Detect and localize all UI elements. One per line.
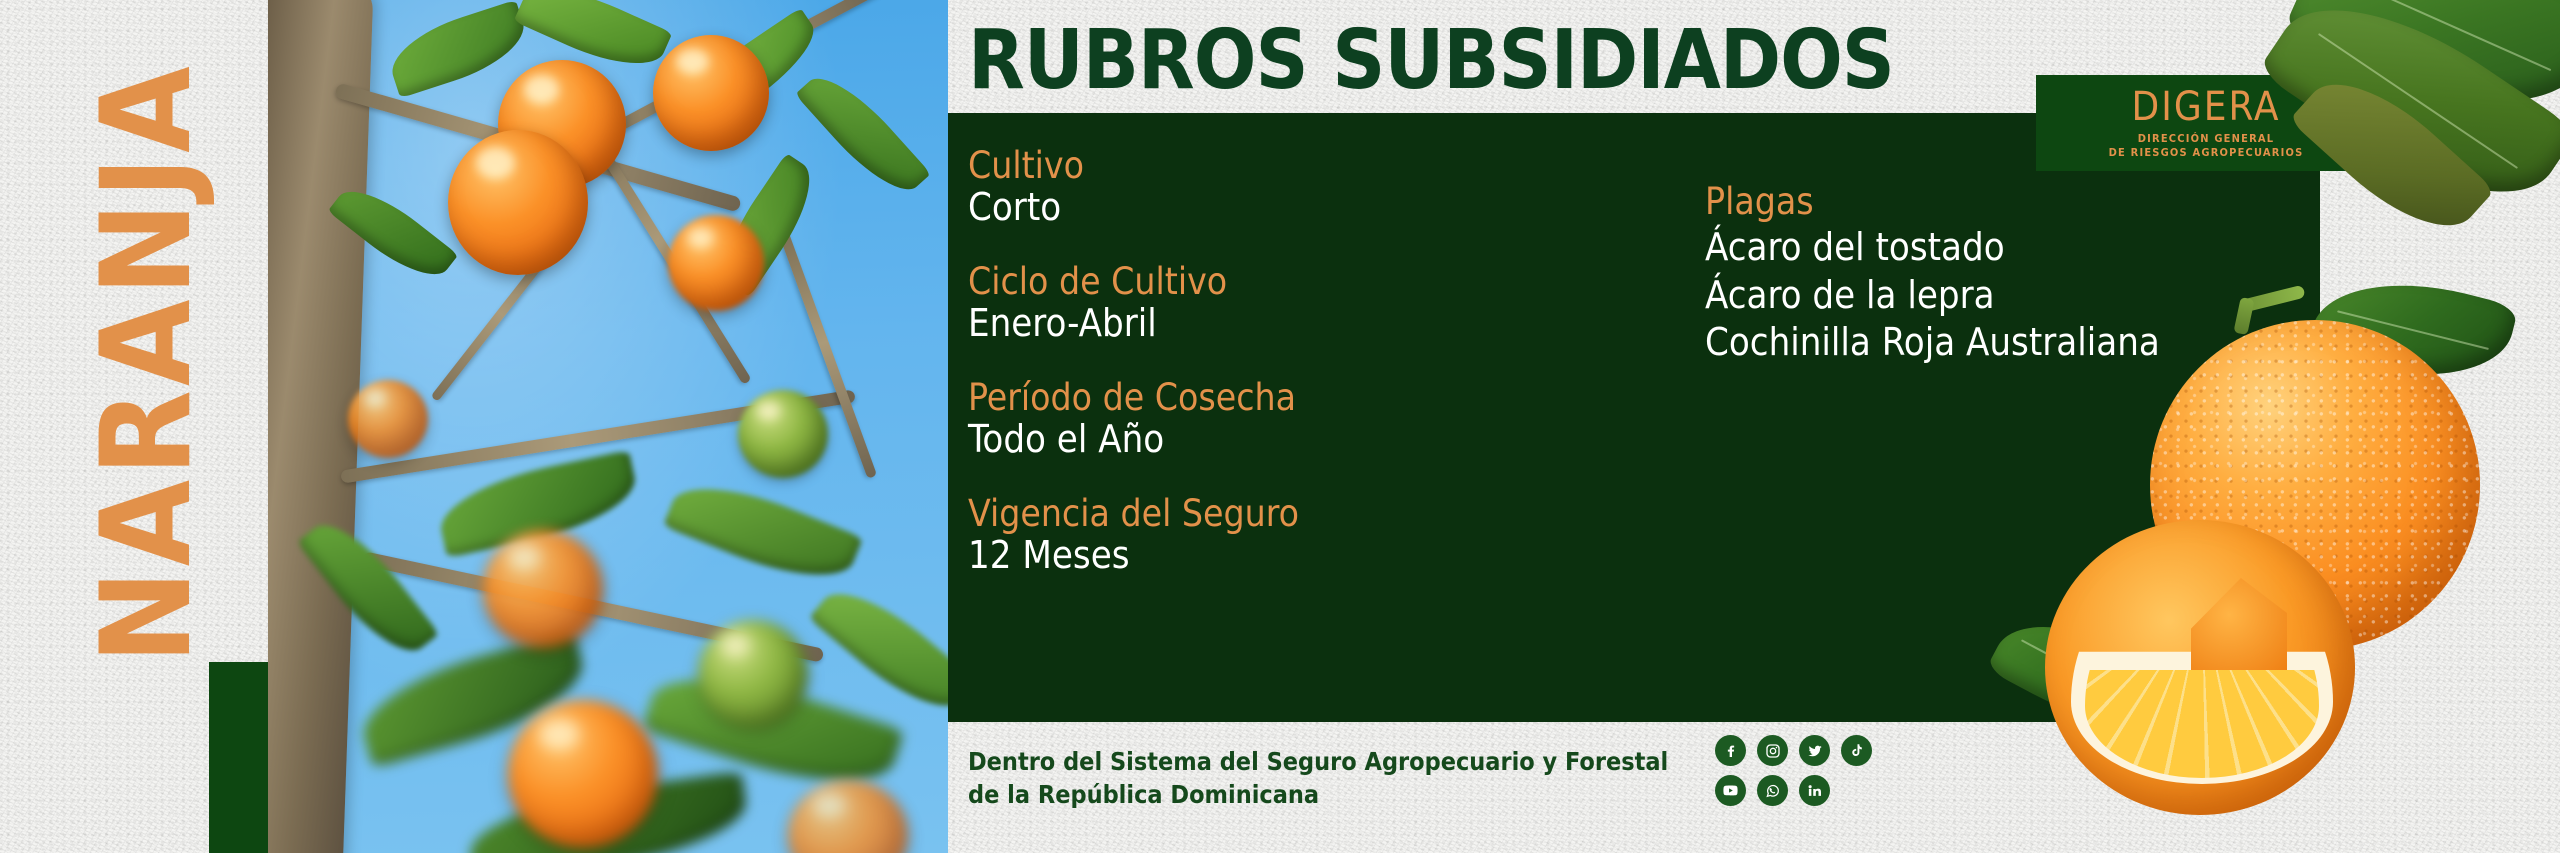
orange-fruit — [668, 215, 764, 311]
facebook-icon[interactable] — [1715, 735, 1746, 766]
pest-list-label: Plagas — [1705, 180, 2325, 224]
page-title: RUBROS SUBSIDIADOS — [968, 20, 1894, 102]
poster-canvas: NARANJA — [0, 0, 2560, 853]
orange-slice-flesh — [2085, 578, 2319, 778]
orange-tree-photo — [268, 0, 948, 853]
orange-stem-base — [2233, 297, 2254, 335]
youtube-icon[interactable] — [1715, 775, 1746, 806]
logo-subtitle-line2: DE RIESGOS AGROPECUARIOS — [2109, 146, 2304, 160]
footer-note-line1: Dentro del Sistema del Seguro Agropecuar… — [968, 745, 1668, 778]
orange-slice — [2045, 520, 2355, 815]
green-fruit — [738, 390, 828, 478]
linkedin-icon[interactable] — [1799, 775, 1830, 806]
footer-note-line2: de la República Dominicana — [968, 778, 1668, 811]
crop-detail-list: Cultivo Corto Ciclo de Cultivo Enero-Abr… — [968, 145, 1588, 577]
field-label-ciclo-de-cultivo: Ciclo de Cultivo — [968, 261, 1588, 302]
logo-subtitle-line1: DIRECCIÓN GENERAL — [2109, 132, 2304, 146]
social-row-1 — [1715, 735, 1885, 766]
instagram-icon[interactable] — [1757, 735, 1788, 766]
twitter-icon[interactable] — [1799, 735, 1830, 766]
green-accent-block — [209, 662, 269, 853]
green-fruit — [698, 620, 808, 728]
footer-note: Dentro del Sistema del Seguro Agropecuar… — [968, 745, 1668, 811]
social-links — [1715, 735, 1885, 815]
orange-fruit — [653, 35, 769, 151]
field-value-vigencia-del-seguro: 12 Meses — [968, 534, 1588, 577]
orange-fruit — [483, 530, 603, 648]
tiktok-icon[interactable] — [1841, 735, 1872, 766]
field-label-cultivo: Cultivo — [968, 145, 1588, 186]
whatsapp-icon[interactable] — [1757, 775, 1788, 806]
field-label-vigencia-del-seguro: Vigencia del Seguro — [968, 493, 1588, 534]
orange-fruit — [448, 130, 588, 275]
logo-subtitle: DIRECCIÓN GENERAL DE RIESGOS AGROPECUARI… — [2109, 132, 2304, 160]
orange-product-photo — [1985, 230, 2560, 853]
field-label-periodo-de-cosecha: Período de Cosecha — [968, 377, 1588, 418]
social-row-2 — [1715, 775, 1885, 806]
field-value-cultivo: Corto — [968, 186, 1588, 229]
orange-fruit — [348, 380, 428, 458]
field-value-ciclo-de-cultivo: Enero-Abril — [968, 302, 1588, 345]
logo-wordmark: DIGERA — [2132, 87, 2281, 127]
field-value-periodo-de-cosecha: Todo el Año — [968, 418, 1588, 461]
orange-fruit — [508, 700, 658, 848]
crop-name-vertical: NARANJA — [77, 0, 217, 738]
orange-slice-notch — [2191, 578, 2287, 670]
